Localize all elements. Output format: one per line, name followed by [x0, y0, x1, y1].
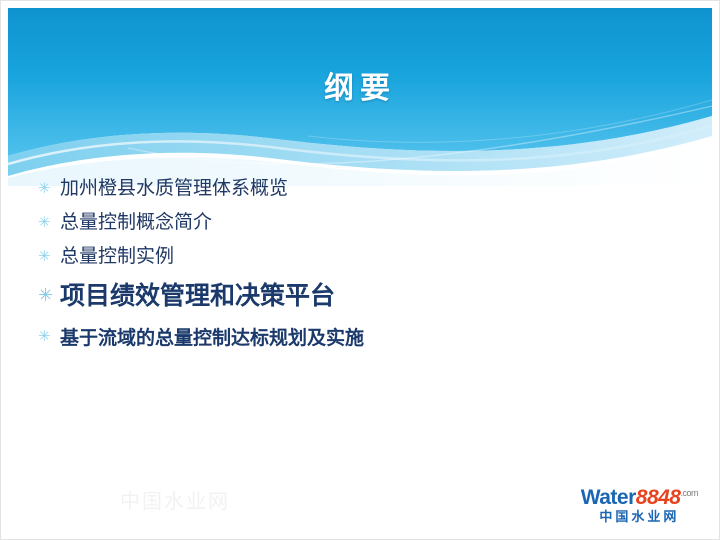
list-item[interactable]: ✳ 总量控制实例 — [38, 240, 678, 272]
slide-header-banner: 纲要 — [8, 8, 712, 186]
asterisk-bullet-icon: ✳ — [38, 206, 60, 230]
asterisk-bullet-icon: ✳ — [38, 274, 60, 304]
list-item-label: 总量控制实例 — [60, 240, 174, 272]
logo-word: Water — [581, 486, 636, 509]
list-item[interactable]: ✳ 项目绩效管理和决策平台 — [38, 274, 678, 318]
asterisk-bullet-icon: ✳ — [38, 172, 60, 196]
logo-wordmark: Water8848.com — [581, 487, 698, 508]
list-item-label: 加州橙县水质管理体系概览 — [60, 172, 288, 204]
asterisk-bullet-icon: ✳ — [38, 240, 60, 264]
list-item-label: 基于流域的总量控制达标规划及实施 — [60, 320, 364, 356]
list-item[interactable]: ✳ 基于流域的总量控制达标规划及实施 — [38, 320, 678, 356]
page-title: 纲要 — [8, 63, 712, 107]
site-logo[interactable]: Water8848.com 中国水业网 — [581, 487, 698, 524]
logo-subtitle: 中国水业网 — [581, 511, 698, 524]
logo-number: 8848 — [636, 486, 681, 509]
list-item[interactable]: ✳ 总量控制概念简介 — [38, 206, 678, 238]
list-item-label: 总量控制概念简介 — [60, 206, 212, 238]
slide-canvas: 纲要 ✳ 加州橙县水质管理体系概览 ✳ 总量控制概念简介 ✳ 总量控制实例 ✳ … — [0, 0, 720, 540]
watermark-text: 中国水业网 — [120, 485, 230, 514]
logo-dotcom: .com — [680, 488, 698, 498]
list-item[interactable]: ✳ 加州橙县水质管理体系概览 — [38, 172, 678, 204]
list-item-label: 项目绩效管理和决策平台 — [60, 274, 335, 318]
asterisk-bullet-icon: ✳ — [38, 320, 60, 344]
bullet-list: ✳ 加州橙县水质管理体系概览 ✳ 总量控制概念简介 ✳ 总量控制实例 ✳ 项目绩… — [38, 172, 678, 358]
